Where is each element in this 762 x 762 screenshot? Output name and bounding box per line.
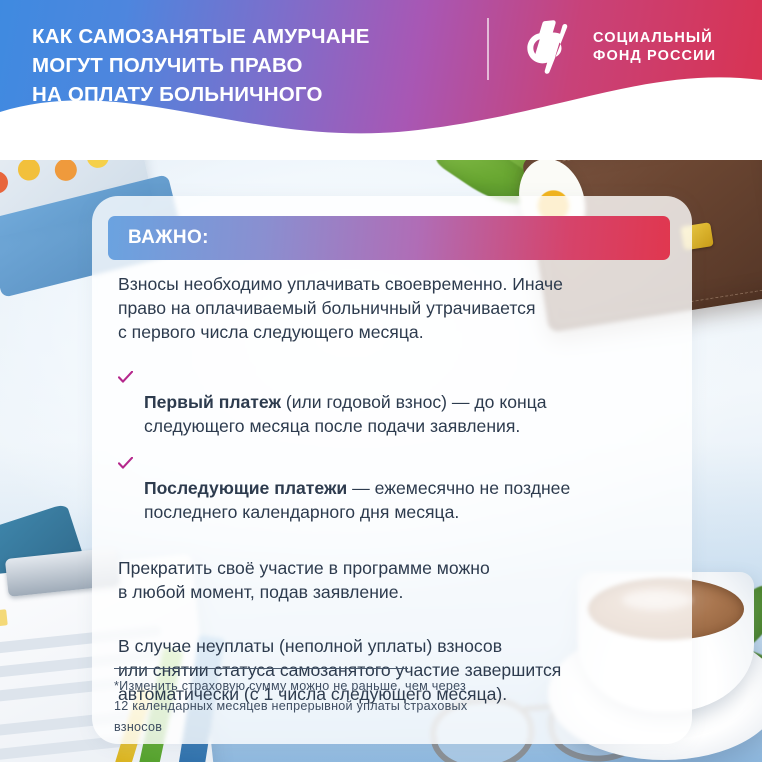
list-item-text: Первый платеж (или годовой взнос) — до к…: [144, 366, 547, 438]
check-mark-icon: [118, 457, 133, 470]
check-mark-icon: [118, 371, 133, 384]
poster-root: КАК САМОЗАНЯТЫЕ АМУРЧАНЕ МОГУТ ПОЛУЧИТЬ …: [0, 0, 762, 762]
header-divider: [487, 18, 489, 80]
page-title: КАК САМОЗАНЯТЫЕ АМУРЧАНЕ МОГУТ ПОЛУЧИТЬ …: [32, 22, 370, 109]
header-banner: КАК САМОЗАНЯТЫЕ АМУРЧАНЕ МОГУТ ПОЛУЧИТЬ …: [0, 0, 762, 160]
intro-paragraph: Взносы необходимо уплачивать своевременн…: [118, 272, 670, 344]
list-item: Последующие платежи — ежемесячно не позд…: [118, 452, 670, 524]
sticky-note: [0, 609, 8, 629]
pill-red: [0, 169, 10, 195]
list-item-text: Последующие платежи — ежемесячно не позд…: [144, 452, 570, 524]
bullet-list: Первый платеж (или годовой взнос) — до к…: [118, 366, 670, 524]
content-card: ВАЖНО: Взносы необходимо уплачивать свое…: [92, 196, 692, 744]
brand-name: СОЦИАЛЬНЫЙ ФОНД РОССИИ: [593, 29, 716, 66]
brand-lockup: СОЦИАЛЬНЫЙ ФОНД РОССИИ: [520, 18, 716, 76]
footnote-divider: [114, 668, 408, 669]
stop-paragraph: Прекратить своё участие в программе можн…: [118, 556, 670, 604]
footnote-text: *Изменить страховую сумму можно не раньш…: [114, 676, 666, 737]
list-item-emphasis: Последующие платежи: [144, 478, 347, 498]
pill-yellow: [16, 156, 42, 182]
important-label: ВАЖНО:: [128, 227, 209, 249]
list-item: Первый платеж (или годовой взнос) — до к…: [118, 366, 670, 438]
sfr-monogram-icon: [520, 18, 578, 76]
pill-orange: [53, 157, 79, 183]
important-banner: ВАЖНО:: [108, 216, 670, 260]
list-item-emphasis: Первый платеж: [144, 392, 281, 412]
card-body: Взносы необходимо уплачивать своевременн…: [118, 272, 670, 706]
